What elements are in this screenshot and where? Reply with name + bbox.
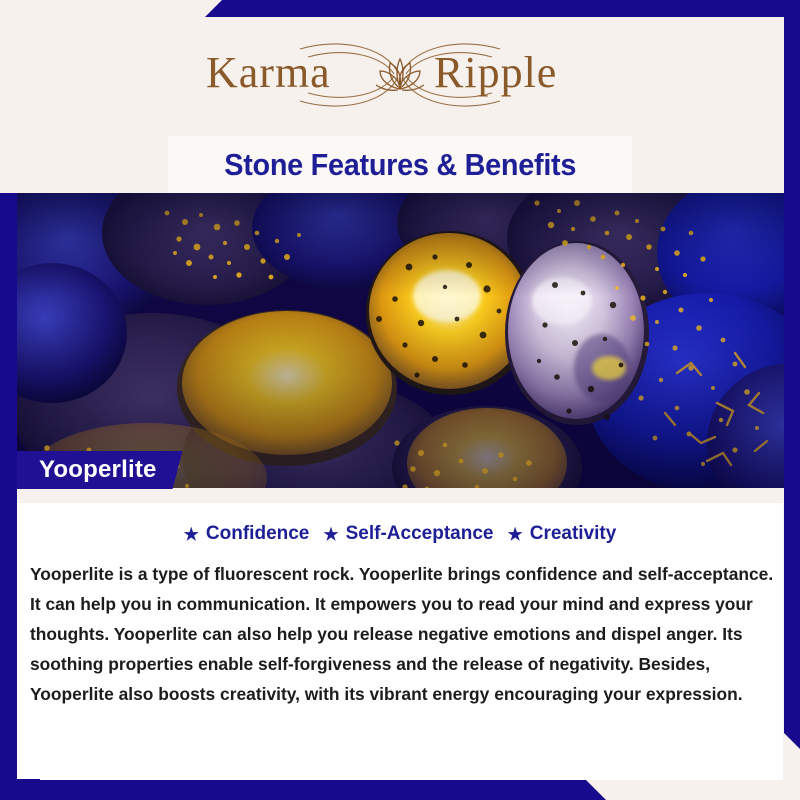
benefit-keyword-label: Confidence [206,523,309,545]
stone-photo [17,193,800,488]
benefit-keyword-label: Self-Acceptance [346,523,494,545]
card-top-strip [17,489,783,503]
benefit-keyword-creativity: ★ Creativity [507,523,616,545]
brand-logo[interactable]: Karma Ripple [0,33,800,117]
frame-band-bottom [0,780,800,800]
logo-word-left: Karma [206,48,331,97]
brand-logo-mark: Karma Ripple [190,33,610,117]
stone-name-badge: Yooperlite [17,451,183,489]
section-title-bar: Stone Features & Benefits [168,136,632,193]
benefit-keyword-label: Creativity [530,523,617,545]
frame-band-top [0,0,800,17]
description-card: ★ Confidence ★ Self-Acceptance ★ Creativ… [17,489,783,780]
star-icon: ★ [323,526,338,543]
stone-description-text: Yooperlite is a type of fluorescent rock… [30,559,778,709]
benefit-keyword-confidence: ★ Confidence [184,523,310,545]
stone-photo-illustration [17,193,800,488]
page-title: Stone Features & Benefits [224,147,576,183]
frame-band-left-foot [0,779,40,800]
benefit-keyword-self-acceptance: ★ Self-Acceptance [323,523,493,545]
star-icon: ★ [184,526,199,543]
benefit-keyword-list: ★ Confidence ★ Self-Acceptance ★ Creativ… [17,523,783,545]
logo-word-right: Ripple [434,48,557,97]
stone-name-label: Yooperlite [39,456,157,484]
star-icon: ★ [507,526,522,543]
frame-band-left [0,193,17,800]
